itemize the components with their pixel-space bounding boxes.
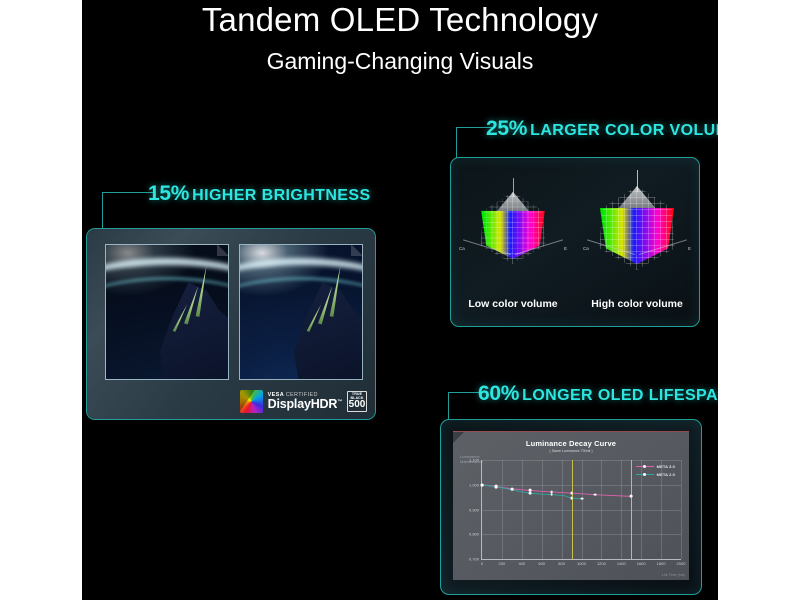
- x-axis-tick: 200: [499, 561, 506, 566]
- screenshot-tandem-oled-brightness: [239, 244, 363, 380]
- legend-item: META 3.0: [636, 464, 675, 469]
- page-title: Tandem OLED Technology: [82, 1, 718, 39]
- y-axis-tick: 0.800: [469, 532, 479, 537]
- chart-data-point: [630, 495, 633, 498]
- chart-x-axis-label: Life Time (hrs): [662, 573, 685, 577]
- callout-lifespan-caption: LONGER OLED LIFESPAN: [522, 387, 718, 404]
- panel-color-volume: Ca E Low color volume Ca E High color v: [450, 157, 700, 327]
- true-black-500-badge: TRUE BLACK 500: [347, 391, 367, 412]
- callout-color-caption: LARGER COLOR VOLUME: [530, 122, 718, 139]
- chart-data-point: [495, 486, 498, 489]
- legend-label: META 2.0: [657, 472, 675, 477]
- y-axis-tick: 1.000: [469, 482, 479, 487]
- chart-data-point: [570, 492, 573, 495]
- x-axis-tick: 1200: [597, 561, 606, 566]
- axis-label-ca: Ca: [583, 246, 589, 251]
- trademark-symbol: ™: [337, 399, 342, 405]
- x-axis-tick: 0: [481, 561, 483, 566]
- x-axis-tick: 2000: [677, 561, 686, 566]
- y-axis-tick: 0.900: [469, 507, 479, 512]
- poster-canvas: Tandem OLED Technology Gaming-Changing V…: [82, 0, 718, 600]
- chart-data-point: [594, 493, 597, 496]
- callout-color-percent: 25%: [486, 117, 527, 140]
- panel-brightness: VESA CERTIFIED DisplayHDR™ TRUE BLACK 50…: [86, 228, 376, 420]
- displayhdr-wordmark: DisplayHDR™: [268, 398, 342, 411]
- displayhdr-badge: VESA CERTIFIED DisplayHDR™ TRUE BLACK 50…: [240, 390, 367, 413]
- color-volume-cell-high: Ca E High color volume: [575, 158, 699, 326]
- brightness-backdrop: VESA CERTIFIED DisplayHDR™ TRUE BLACK 50…: [87, 229, 375, 419]
- chart-subtitle: ( Same Luminance 700nit ): [453, 449, 689, 453]
- x-axis-tick: 1400: [617, 561, 626, 566]
- chart-data-point: [570, 497, 573, 500]
- color-volume-comparison: Ca E Low color volume Ca E High color v: [451, 158, 699, 326]
- callout-lifespan-percent: 60%: [478, 382, 519, 405]
- color-volume-cell-low: Ca E Low color volume: [451, 158, 575, 326]
- true-black-value: 500: [349, 400, 366, 410]
- luminance-decay-chart: Luminance Decay Curve ( Same Luminance 7…: [453, 431, 689, 580]
- legend-swatch: [636, 474, 654, 475]
- legend-swatch: [636, 466, 654, 467]
- screenshot-standard-brightness: [105, 244, 229, 380]
- chart-data-point: [550, 493, 553, 496]
- x-axis-tick: 800: [558, 561, 565, 566]
- x-axis-tick: 1600: [637, 561, 646, 566]
- y-axis-tick: 0.700: [469, 557, 479, 562]
- callout-lifespan: 60%LONGER OLED LIFESPAN: [478, 382, 718, 406]
- caption-low-color-volume: Low color volume: [451, 298, 575, 310]
- callout-brightness: 15%HIGHER BRIGHTNESS: [148, 182, 371, 206]
- displayhdr-text: VESA CERTIFIED DisplayHDR™: [268, 393, 342, 411]
- chart-data-point: [528, 492, 531, 495]
- grid-line-vertical: [681, 460, 682, 559]
- callout-color: 25%LARGER COLOR VOLUME: [486, 117, 718, 141]
- x-axis-tick: 400: [518, 561, 525, 566]
- caption-high-color-volume: High color volume: [575, 298, 699, 310]
- legend-item: META 2.0: [636, 472, 675, 477]
- legend-label: META 3.0: [657, 464, 675, 469]
- x-axis-tick: 600: [538, 561, 545, 566]
- chart-legend: META 3.0META 2.0: [636, 464, 675, 477]
- chart-data-point: [481, 483, 484, 486]
- gamut-axes-low: Ca E: [461, 250, 565, 276]
- y-axis-tick: 1.100: [469, 458, 479, 463]
- chart-data-point: [581, 497, 584, 500]
- chart-data-point: [510, 488, 513, 491]
- callout-brightness-percent: 15%: [148, 182, 189, 205]
- vesa-logo-icon: [240, 390, 263, 413]
- panel-lifespan: Luminance Decay Curve ( Same Luminance 7…: [440, 419, 702, 595]
- axis-label-e: E: [688, 246, 691, 251]
- gamut-axes-high: Ca E: [585, 250, 689, 276]
- axis-label-e: E: [564, 246, 567, 251]
- page-subtitle: Gaming-Changing Visuals: [82, 48, 718, 75]
- axis-label-ca: Ca: [459, 246, 465, 251]
- x-axis-tick: 1000: [577, 561, 586, 566]
- callout-brightness-caption: HIGHER BRIGHTNESS: [192, 187, 370, 204]
- chart-title: Luminance Decay Curve: [453, 439, 689, 448]
- x-axis-tick: 1800: [657, 561, 666, 566]
- displayhdr-main-text: DisplayHDR: [268, 397, 338, 411]
